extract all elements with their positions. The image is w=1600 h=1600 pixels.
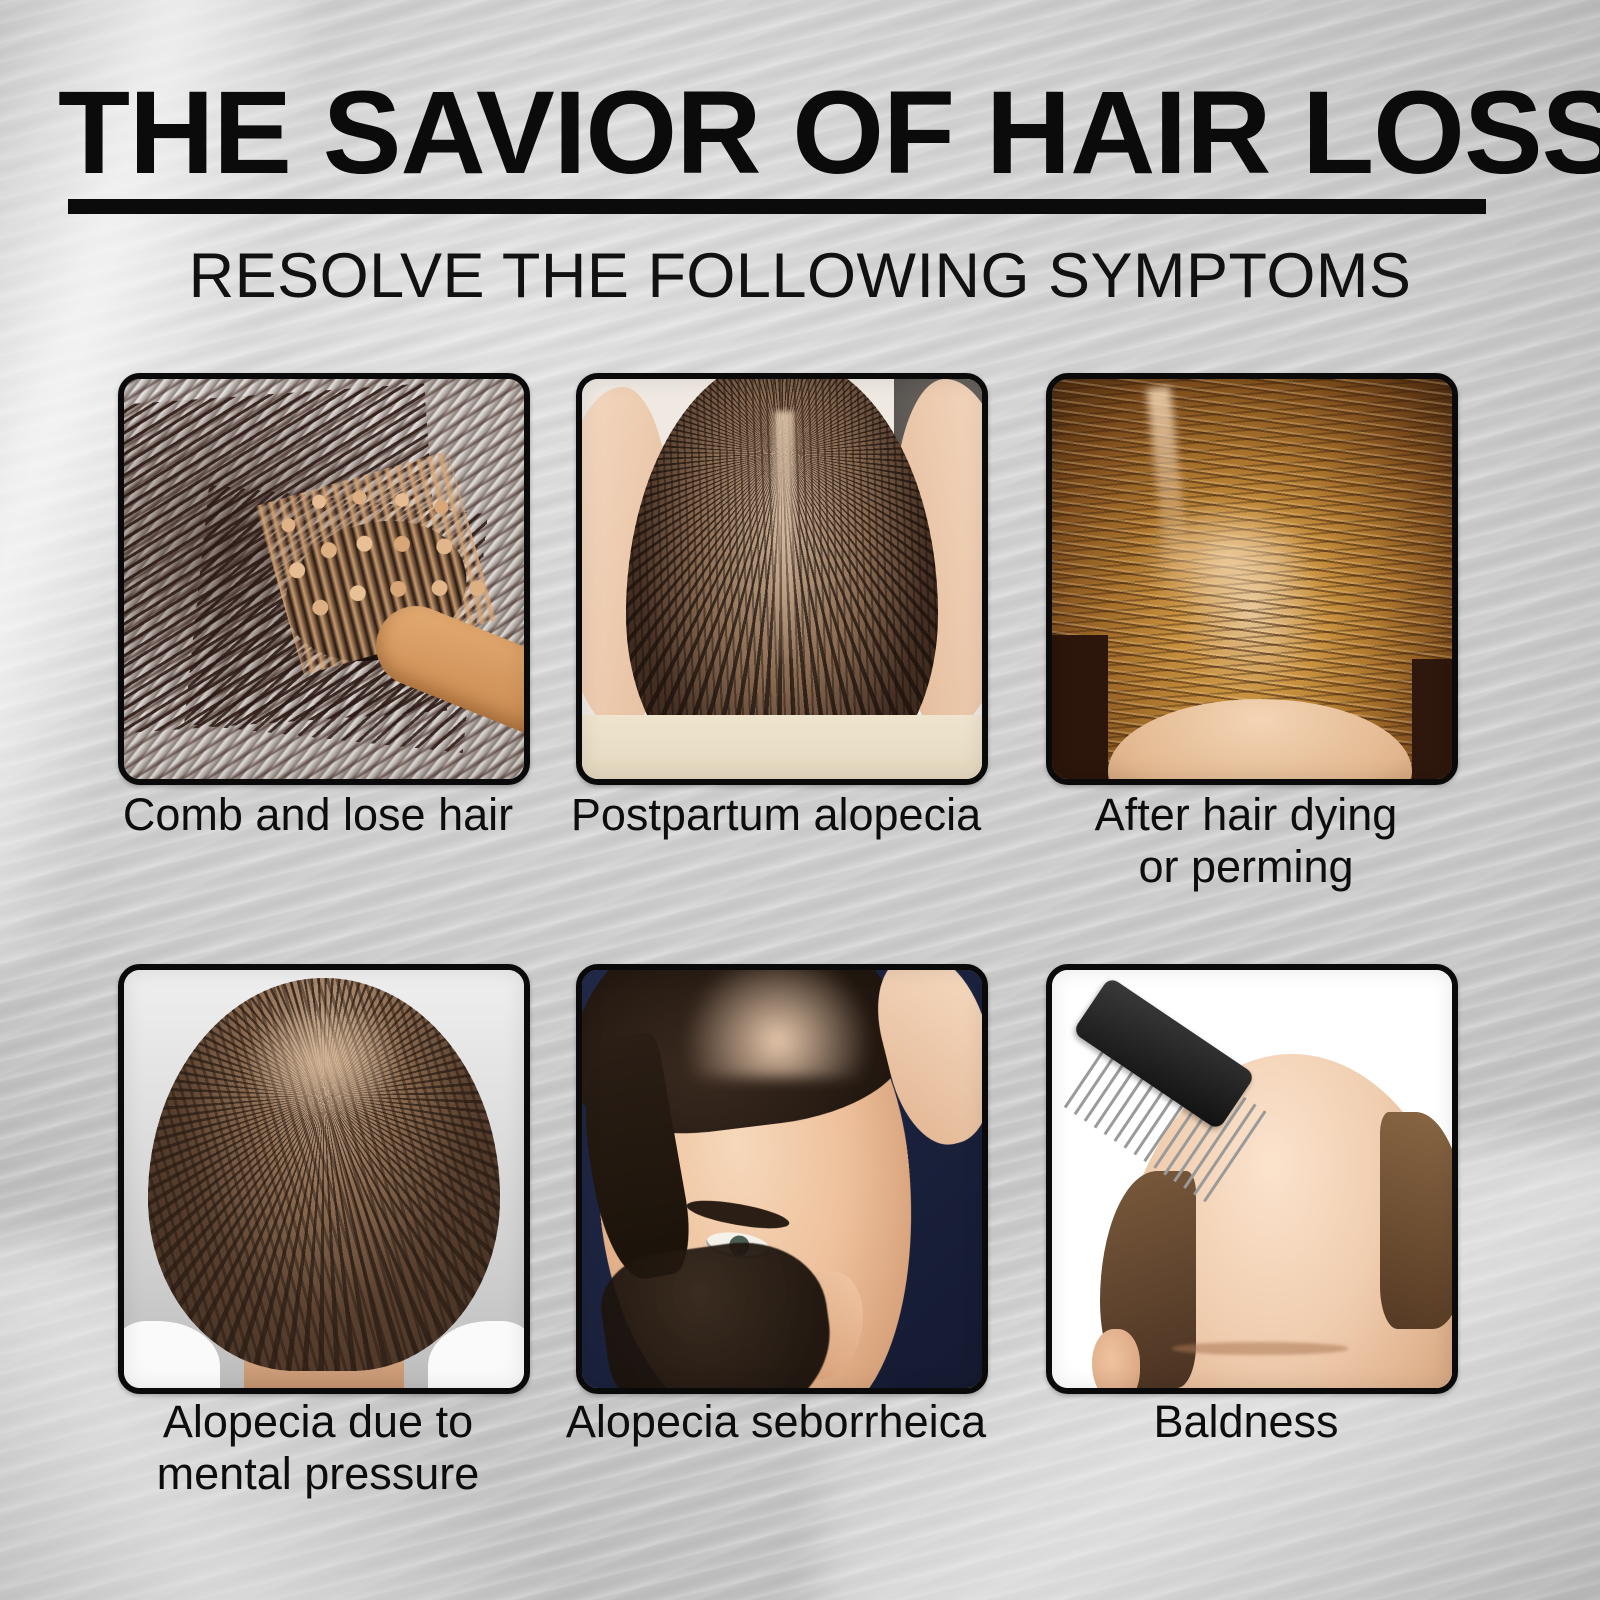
receding-hairline-patch (686, 970, 870, 1079)
photo-after-hair-dying-or-perming (1052, 379, 1452, 779)
symptom-image-frame (118, 964, 530, 1394)
symptom-image-frame (1046, 964, 1458, 1394)
symptom-caption: Alopecia due to mental pressure (98, 1396, 538, 1500)
shirt-collar (582, 715, 982, 779)
hair-fringe-right (1380, 1112, 1452, 1329)
photo-comb-and-lose-hair (124, 379, 524, 779)
hair-side-shadow-left (1052, 635, 1108, 779)
hair-part-line (774, 411, 794, 659)
symptom-caption: Baldness (1026, 1396, 1466, 1448)
symptom-caption: Alopecia seborrheica (546, 1396, 1006, 1448)
photo-postpartum-alopecia (582, 379, 982, 779)
photo-alopecia-due-to-mental-pressure (124, 970, 524, 1388)
symptom-image-frame (118, 373, 530, 785)
photo-alopecia-seborrheica (582, 970, 982, 1388)
infographic-poster: THE SAVIOR OF HAIR LOSS RESOLVE THE FOLL… (0, 0, 1600, 1600)
symptom-caption: Postpartum alopecia (556, 789, 996, 841)
symptom-image-frame (576, 964, 988, 1394)
hair-side-shadow-right (1412, 659, 1452, 779)
symptom-image-frame (1046, 373, 1458, 785)
symptom-image-frame (576, 373, 988, 785)
thinning-crown-patch (244, 1012, 404, 1121)
symptom-grid: Comb and lose hair Postpartum alopecia (0, 0, 1600, 1600)
photo-baldness (1052, 970, 1452, 1388)
ear (1092, 1329, 1140, 1388)
symptom-caption: After hair dying or perming (1026, 789, 1466, 893)
symptom-caption: Comb and lose hair (98, 789, 538, 841)
forehead-wrinkle (1172, 1342, 1348, 1355)
